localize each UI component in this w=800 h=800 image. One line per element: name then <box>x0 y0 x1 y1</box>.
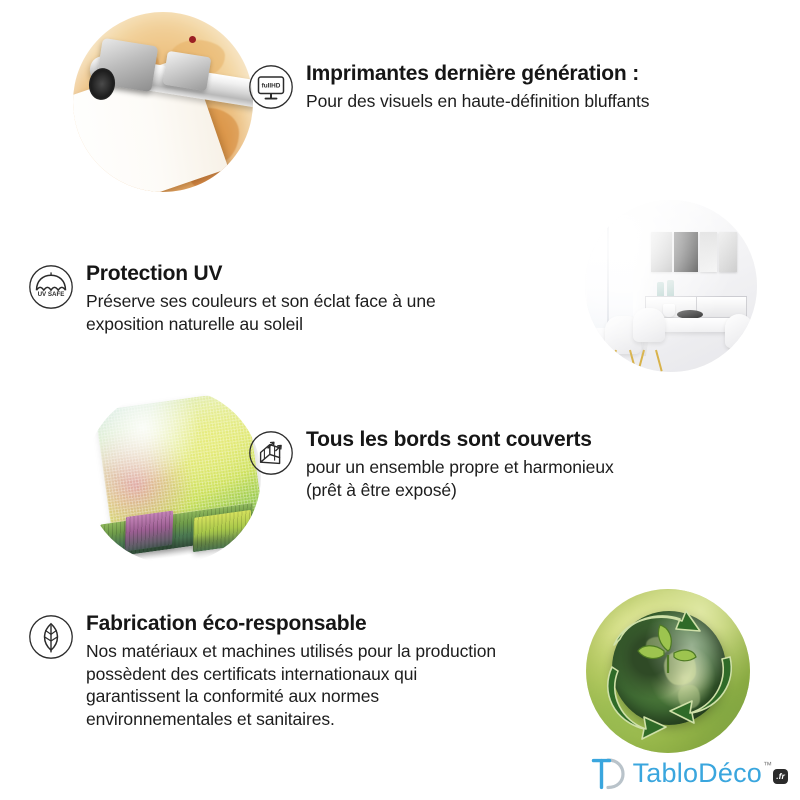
feature-description: Pour des visuels en haute-définition blu… <box>306 90 728 113</box>
feature-print-quality: fullHD Imprimantes dernière génération :… <box>248 62 728 113</box>
feature-description-line-1: Préserve ses couleurs et son éclat face … <box>86 290 548 313</box>
svg-text:UV SAFE: UV SAFE <box>38 291 65 298</box>
brand-name: TabloDéco <box>633 760 762 787</box>
feature-description-line-2: (prêt à être exposé) <box>306 479 708 502</box>
uv-safe-parasol-icon: UV SAFE <box>28 264 74 310</box>
feature-description-line-2: exposition naturelle au soleil <box>86 313 548 336</box>
svg-text:fullHD: fullHD <box>262 83 281 90</box>
feature-description-line-3: garantissent la conformité aux normes <box>86 685 588 708</box>
feature-covered-edges: Tous les bords sont couverts pour un ens… <box>248 428 708 502</box>
feature-text-block: Protection UV Préserve ses couleurs et s… <box>86 262 548 336</box>
domain-badge: .fr <box>773 769 788 784</box>
feature-eco-manufacturing: Fabrication éco-responsable Nos matériau… <box>28 612 588 731</box>
wrapped-edges-icon <box>248 430 294 476</box>
large-format-printer-photo <box>73 12 253 192</box>
leaf-icon <box>28 614 74 660</box>
feature-description-line-2: possèdent des certificats internationaux… <box>86 663 588 686</box>
dining-room-wall-art-photo <box>585 200 757 372</box>
brand-wordmark: TabloDéco ™ .fr <box>633 760 788 787</box>
feature-description-line-1: pour un ensemble propre et harmonieux <box>306 456 708 479</box>
feature-title: Fabrication éco-responsable <box>86 612 588 637</box>
room-window <box>587 224 633 328</box>
feature-title: Protection UV <box>86 262 548 287</box>
feature-title: Imprimantes dernière génération : <box>306 62 728 87</box>
recycling-arrows-icon <box>596 597 740 745</box>
eco-globe-recycling-photo <box>586 589 750 753</box>
cup <box>663 304 675 317</box>
dining-chair <box>725 314 753 348</box>
printer-indicator-light <box>189 36 196 43</box>
printer-carriage <box>163 51 212 91</box>
trademark-symbol: ™ <box>763 761 772 770</box>
td-monogram-icon <box>588 754 626 792</box>
feature-text-block: Tous les bords sont couverts pour un ens… <box>306 428 708 502</box>
feature-text-block: Fabrication éco-responsable Nos matériau… <box>86 612 588 731</box>
feature-text-block: Imprimantes dernière génération : Pour d… <box>306 62 728 113</box>
wall-art-panels <box>651 232 737 272</box>
canvas-corner-photo <box>85 388 261 564</box>
feature-title: Tous les bords sont couverts <box>306 428 708 453</box>
feature-description-line-1: Nos matériaux et machines utilisés pour … <box>86 640 588 663</box>
feature-description-line-4: environnementales et sanitaires. <box>86 708 588 731</box>
feature-uv-protection: UV SAFE Protection UV Préserve ses coule… <box>28 262 548 336</box>
full-hd-monitor-icon: fullHD <box>248 64 294 110</box>
dining-chair <box>633 308 665 342</box>
brand-logo[interactable]: TabloDéco ™ .fr <box>588 754 788 792</box>
